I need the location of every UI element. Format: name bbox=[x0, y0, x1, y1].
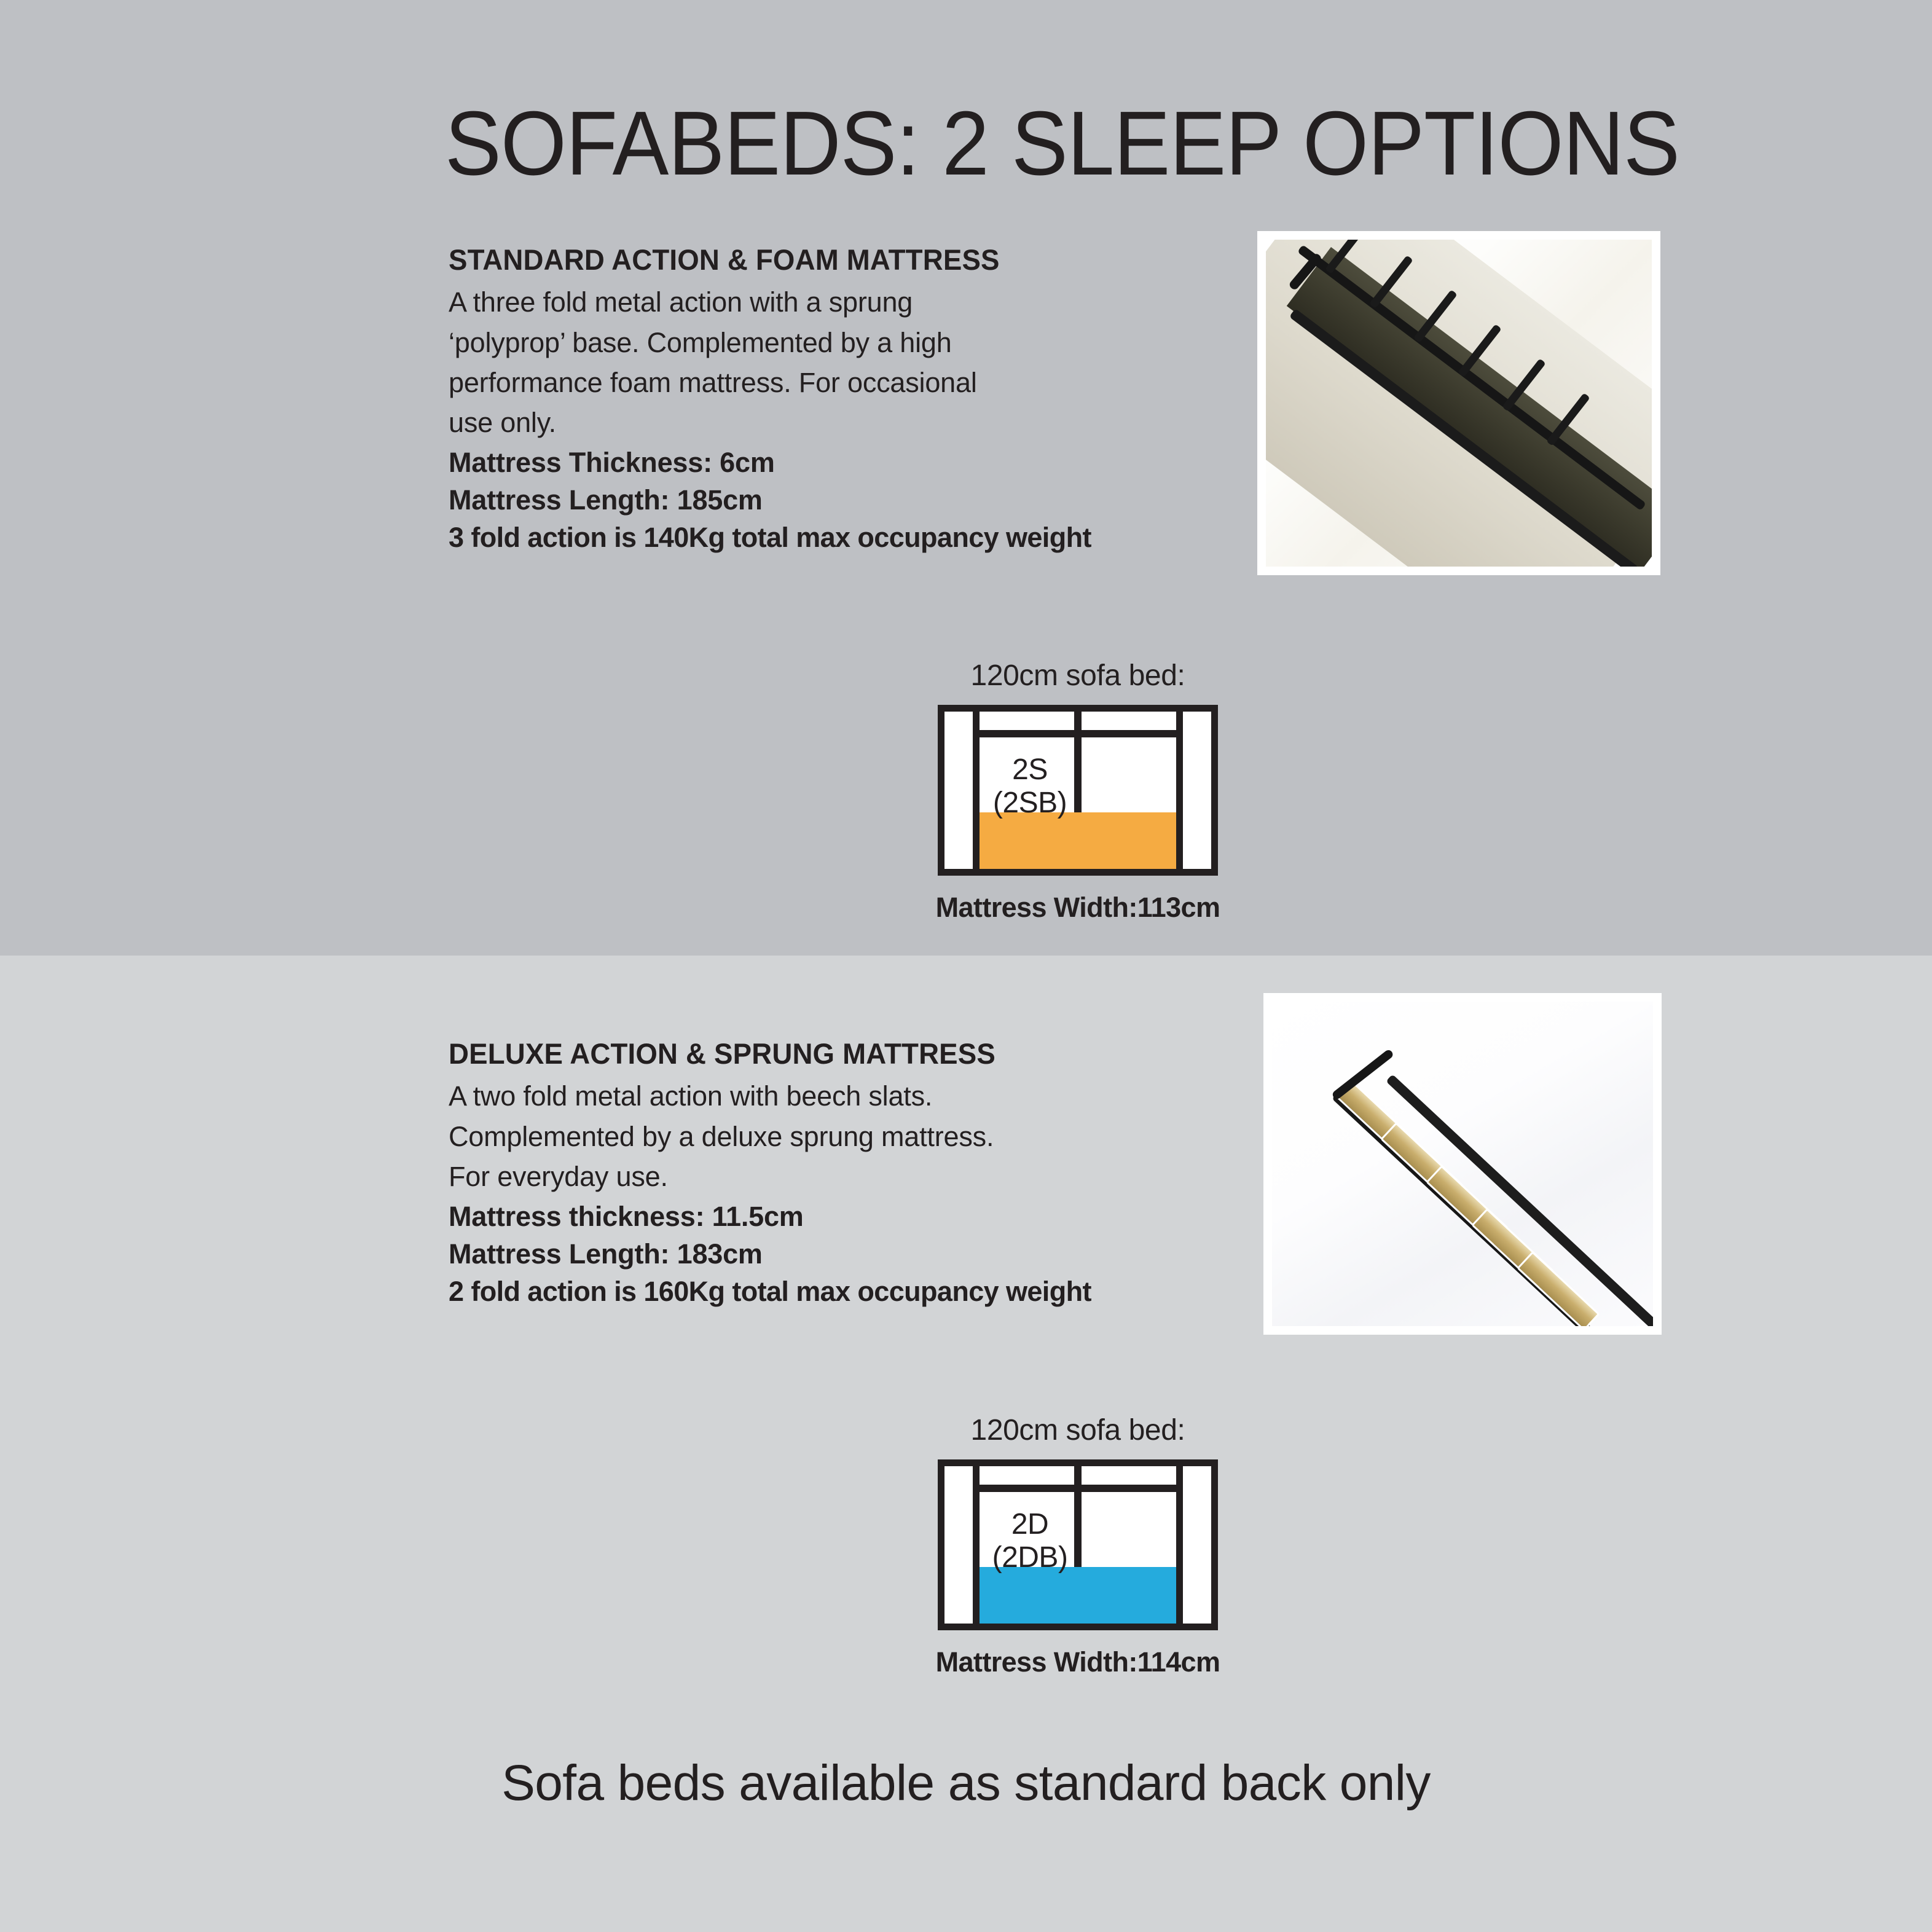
deluxe-sofa-outline: 2D (2DB) bbox=[938, 1459, 1218, 1630]
deluxe-sofa-code: 2D bbox=[980, 1508, 1080, 1541]
deluxe-sofa-code-label: 2D (2DB) bbox=[980, 1508, 1080, 1574]
deluxe-spec-thickness: Mattress thickness: 11.5cm bbox=[449, 1198, 1266, 1235]
standard-section-heading: STANDARD ACTION & FOAM MATTRESS bbox=[449, 245, 1241, 275]
standard-description-line-3: performance foam mattress. For occasiona… bbox=[449, 364, 1266, 401]
standard-sofa-code: 2S bbox=[980, 753, 1080, 787]
deluxe-action-photo-image bbox=[1272, 1002, 1653, 1326]
deluxe-spec-length: Mattress Length: 183cm bbox=[449, 1235, 1266, 1273]
deluxe-diagram-caption-bottom: Mattress Width:114cm bbox=[863, 1646, 1293, 1678]
deluxe-diagram-caption-top: 120cm sofa bed: bbox=[863, 1413, 1293, 1447]
standard-description-line-1: A three fold metal action with a sprung bbox=[449, 283, 1266, 321]
standard-spec-max-occupancy: 3 fold action is 140Kg total max occupan… bbox=[449, 519, 1266, 556]
standard-diagram-caption-top: 120cm sofa bed: bbox=[863, 659, 1293, 693]
standard-action-photo bbox=[1257, 231, 1660, 575]
deluxe-action-photo bbox=[1263, 993, 1662, 1335]
standard-sofa-diagram: 120cm sofa bed: 2S (2SB) Mattress Width:… bbox=[863, 659, 1293, 924]
deluxe-section-heading: DELUXE ACTION & SPRUNG MATTRESS bbox=[449, 1039, 1241, 1069]
deluxe-description-line-3: For everyday use. bbox=[449, 1158, 1266, 1195]
standard-spec-length: Mattress Length: 185cm bbox=[449, 481, 1266, 519]
page-title: SOFABEDS: 2 SLEEP OPTIONS bbox=[445, 98, 1588, 189]
standard-diagram-caption-bottom: Mattress Width:113cm bbox=[863, 892, 1293, 924]
standard-description-line-4: use only. bbox=[449, 404, 1266, 441]
standard-sofa-code-label: 2S (2SB) bbox=[980, 753, 1080, 820]
deluxe-description-line-1: A two fold metal action with beech slats… bbox=[449, 1077, 1266, 1115]
standard-text-block: STANDARD ACTION & FOAM MATTRESS A three … bbox=[449, 245, 1266, 557]
standard-spec-thickness: Mattress Thickness: 6cm bbox=[449, 444, 1266, 481]
standard-action-photo-image bbox=[1266, 240, 1652, 567]
standard-description-line-2: ‘polyprop’ base. Complemented by a high bbox=[449, 324, 1266, 361]
deluxe-description-line-2: Complemented by a deluxe sprung mattress… bbox=[449, 1118, 1266, 1155]
footer-note: Sofa beds available as standard back onl… bbox=[0, 1754, 1932, 1812]
standard-sofa-code-bracketed: (2SB) bbox=[980, 787, 1080, 820]
deluxe-mattress-band bbox=[980, 1567, 1176, 1624]
deluxe-spec-max-occupancy: 2 fold action is 160Kg total max occupan… bbox=[449, 1273, 1266, 1310]
standard-sofa-outline: 2S (2SB) bbox=[938, 705, 1218, 876]
deluxe-sofa-code-bracketed: (2DB) bbox=[980, 1541, 1080, 1574]
deluxe-text-block: DELUXE ACTION & SPRUNG MATTRESS A two fo… bbox=[449, 1039, 1266, 1310]
standard-mattress-band bbox=[980, 812, 1176, 869]
deluxe-sofa-diagram: 120cm sofa bed: 2D (2DB) Mattress Width:… bbox=[863, 1413, 1293, 1678]
